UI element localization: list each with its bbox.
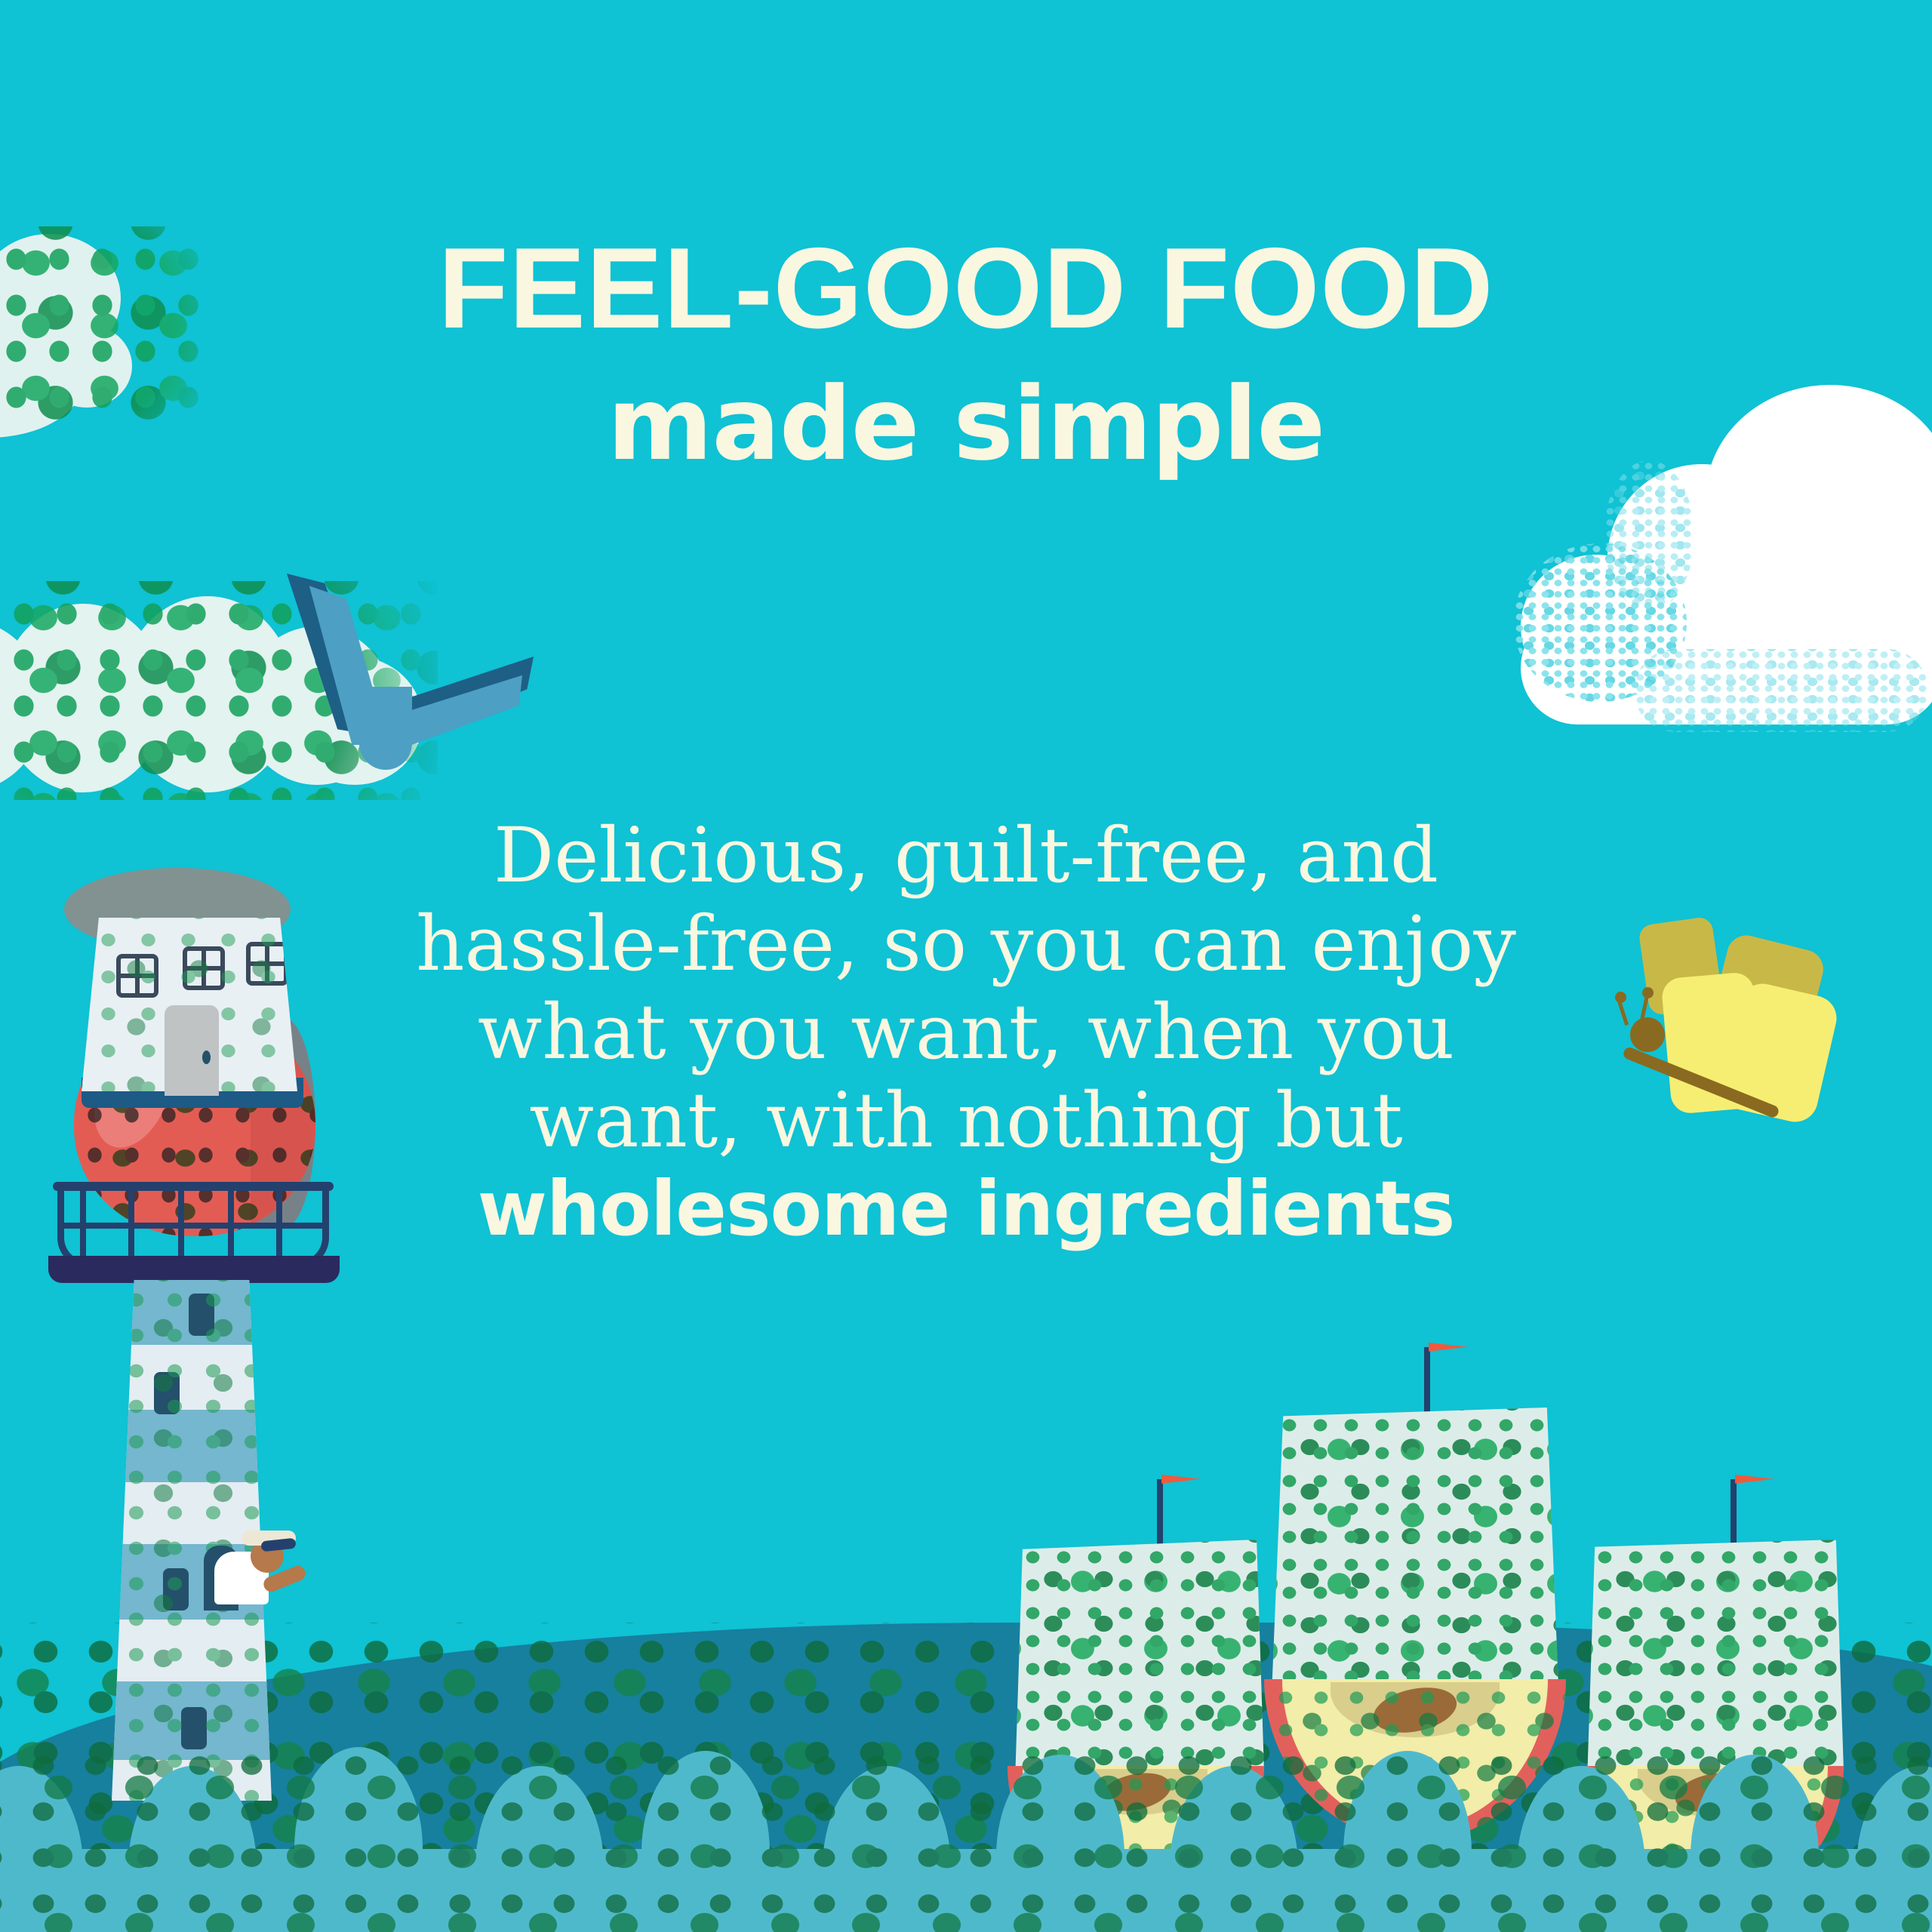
poster-canvas: FEEL-GOOD FOOD made simple Delicious, gu… <box>0 0 1932 1932</box>
body-line-3: what you want, when you <box>478 988 1454 1076</box>
wave-crest <box>294 1747 423 1932</box>
wave-crest <box>823 1766 951 1932</box>
body-copy: Delicious, guilt-free, and hassle-free, … <box>400 811 1532 1253</box>
boat-sail <box>1272 1407 1558 1694</box>
wave-crest <box>996 1755 1124 1932</box>
butterfly-icon <box>1577 906 1819 1117</box>
body-line-1: Delicious, guilt-free, and <box>494 811 1438 900</box>
lighthouse-door <box>165 1005 219 1096</box>
rail-post <box>276 1185 282 1260</box>
boat-flag-icon <box>1161 1475 1201 1494</box>
rail-post <box>178 1182 184 1266</box>
wave-crest <box>1857 1766 1932 1932</box>
wave-row <box>0 1736 1932 1932</box>
body-emphasis: wholesome ingredients <box>400 1164 1532 1253</box>
rail-post <box>80 1185 86 1260</box>
wave-crest <box>1517 1766 1645 1932</box>
rail-post <box>228 1183 234 1265</box>
wave-crest <box>1690 1755 1819 1932</box>
railing-mid-rail <box>59 1223 328 1229</box>
page-title: FEEL-GOOD FOOD <box>0 0 1932 347</box>
seagull-icon <box>287 574 536 770</box>
wave-crest <box>0 1766 83 1932</box>
door-knob-icon <box>202 1051 211 1064</box>
wave-crest <box>1170 1766 1298 1932</box>
boat-flag-icon <box>1735 1475 1774 1494</box>
wave-crest <box>475 1766 604 1932</box>
boat-flag-icon <box>1429 1343 1468 1362</box>
body-line-4: want, with nothing but <box>529 1076 1402 1164</box>
rail-post <box>128 1183 134 1265</box>
wave-crest <box>641 1751 770 1932</box>
lighthouse-keeper <box>204 1518 302 1617</box>
wave-crest <box>1343 1751 1472 1932</box>
lighthouse-gallery-deck <box>48 1256 340 1283</box>
wave-crest <box>128 1766 257 1932</box>
text-block: FEEL-GOOD FOOD made simple <box>0 0 1932 476</box>
body-line-2: hassle-free, so you can enjoy <box>416 900 1516 988</box>
page-subtitle: made simple <box>0 347 1932 476</box>
